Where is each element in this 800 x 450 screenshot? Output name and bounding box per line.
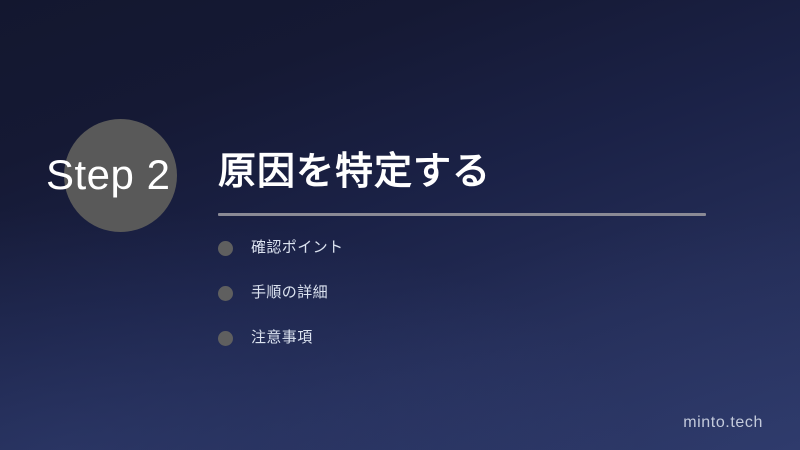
bullet-dot-icon [218,331,233,346]
slide-title: 原因を特定する [218,148,491,196]
list-item: 注意事項 [218,324,343,352]
footer-brand: minto.tech [683,413,763,433]
list-item-label: 注意事項 [251,328,313,348]
presentation-slide: Step 2 原因を特定する 確認ポイント 手順の詳細 注意事項 minto.t… [0,0,800,450]
slide-content: Step 2 原因を特定する 確認ポイント 手順の詳細 注意事項 minto.t… [0,0,800,450]
list-item: 手順の詳細 [218,279,343,307]
bullet-list: 確認ポイント 手順の詳細 注意事項 [218,234,343,369]
title-divider [218,213,706,216]
list-item: 確認ポイント [218,234,343,262]
bullet-dot-icon [218,241,233,256]
step-badge-label: Step 2 [46,152,206,198]
bullet-dot-icon [218,286,233,301]
list-item-label: 確認ポイント [251,238,343,258]
list-item-label: 手順の詳細 [251,283,328,303]
